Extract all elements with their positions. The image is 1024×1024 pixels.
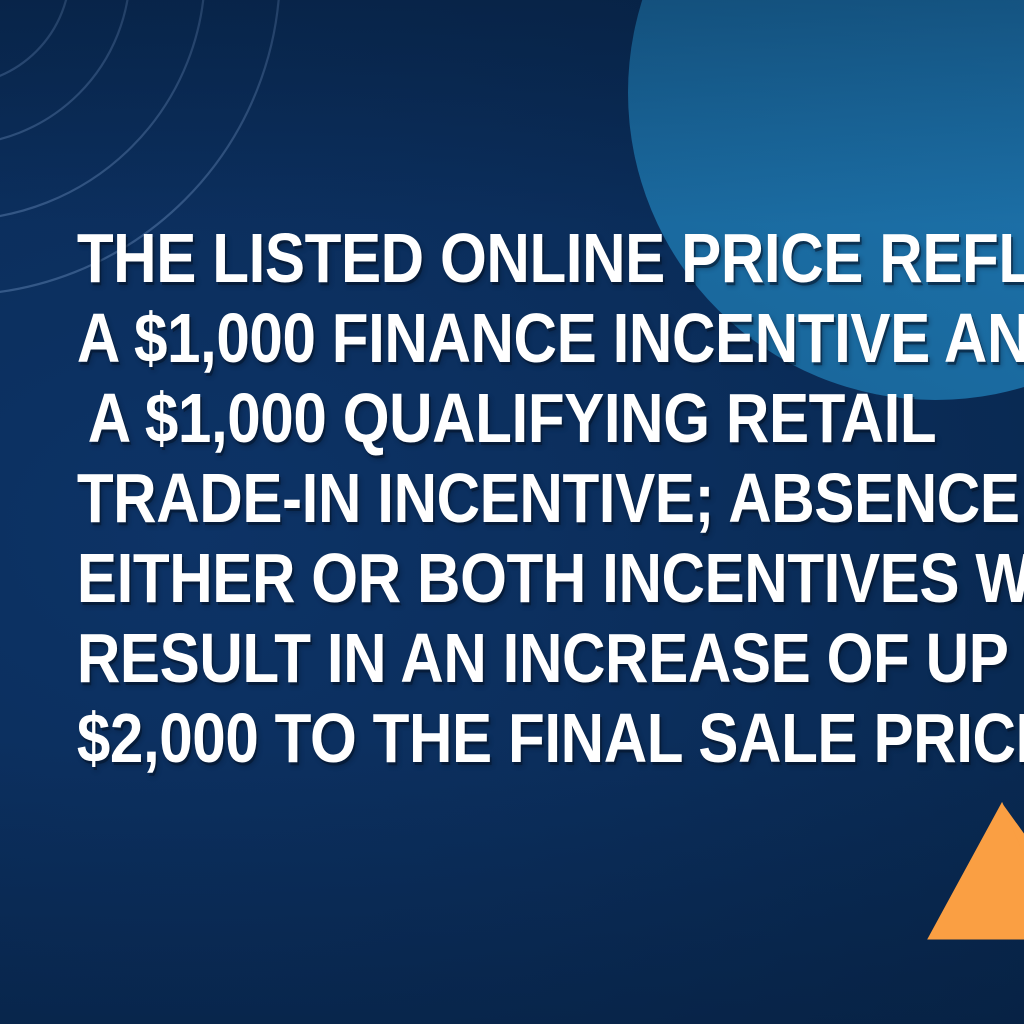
headline-line-1: THE LISTED ONLINE PRICE REFLECTS [77, 218, 947, 298]
headline-line-2: A $1,000 FINANCE INCENTIVE AND [77, 298, 947, 378]
headline-line-3: A $1,000 QUALIFYING RETAIL [77, 378, 947, 458]
orange-triangle [900, 790, 1024, 950]
headline-line-6: RESULT IN AN INCREASE OF UP TO [77, 618, 947, 698]
headline-line-5: EITHER OR BOTH INCENTIVES WILL [77, 538, 947, 618]
headline-line-4: TRADE-IN INCENTIVE; ABSENCE OF [77, 458, 947, 538]
headline-line-7: $2,000 TO THE FINAL SALE PRICE. [77, 698, 947, 778]
promo-disclaimer-graphic: THE LISTED ONLINE PRICE REFLECTS A $1,00… [0, 0, 1024, 1024]
disclaimer-headline: THE LISTED ONLINE PRICE REFLECTS A $1,00… [0, 218, 1024, 778]
